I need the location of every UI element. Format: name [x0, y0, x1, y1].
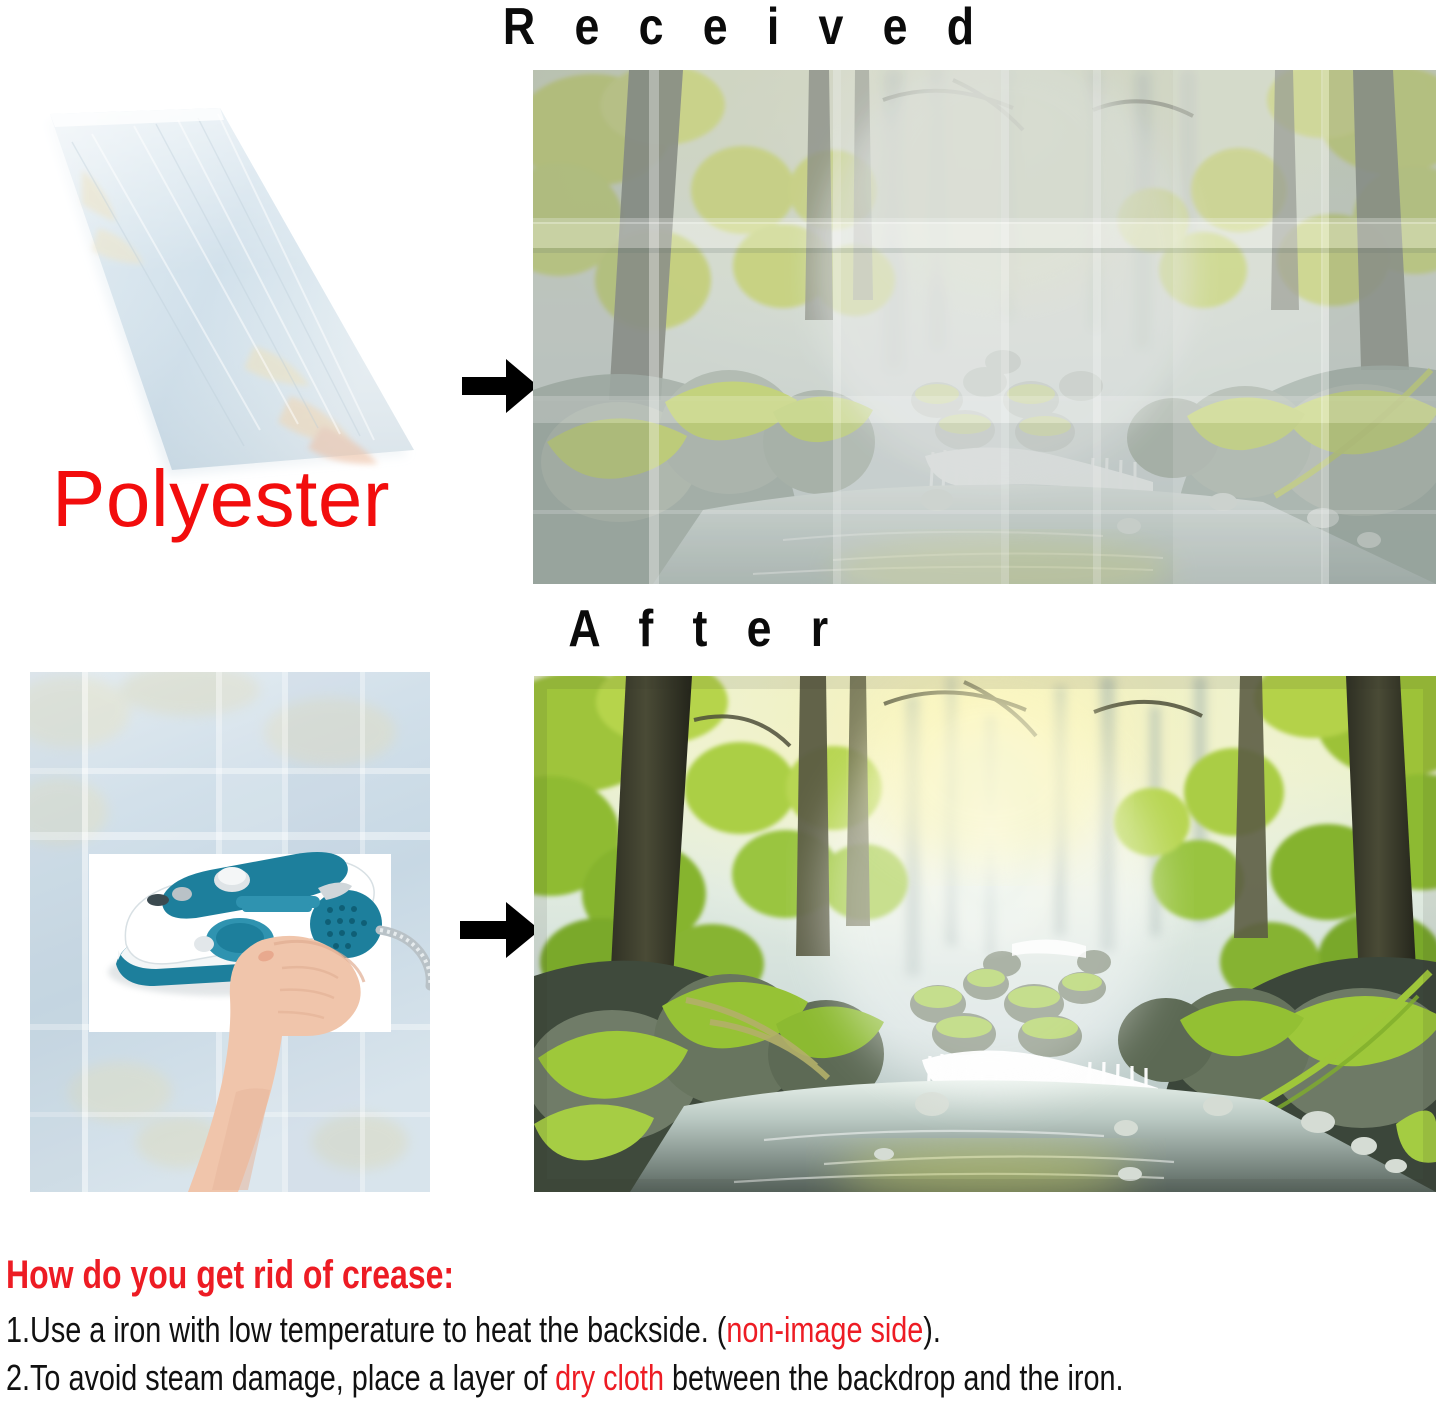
smooth-forest-backdrop-photo [534, 676, 1436, 1192]
instruction-line-2-part-a: 2.To avoid steam damage, place a layer o… [6, 1357, 555, 1398]
instruction-line-2: 2.To avoid steam damage, place a layer o… [6, 1356, 1150, 1400]
after-heading: A f t e r [503, 600, 907, 658]
polyester-label: Polyester [52, 455, 472, 543]
forest-scene-smooth [534, 676, 1436, 1192]
right-arrow-icon [458, 898, 542, 962]
instruction-line-1-part-a: 1.Use a iron with low temperature to hea… [6, 1309, 726, 1350]
folded-polyester-backdrop [22, 78, 432, 498]
right-arrow-icon [460, 355, 540, 417]
infographic-page: R e c e i v e d [0, 0, 1436, 1402]
ironing-illustration [30, 672, 430, 1192]
folded-fabric-illustration [22, 78, 432, 498]
creased-forest-backdrop-photo [533, 70, 1436, 584]
non-image-side-emphasis: non-image side [726, 1309, 923, 1350]
instructions-heading: How do you get rid of crease: [6, 1252, 1150, 1298]
instruction-line-1-part-b: ). [923, 1309, 941, 1350]
instruction-line-1: 1.Use a iron with low temperature to hea… [6, 1308, 1150, 1352]
instructions-block: How do you get rid of crease: 1.Use a ir… [6, 1252, 1436, 1404]
received-heading: R e c e i v e d [503, 0, 907, 56]
instruction-line-2-part-b: between the backdrop and the iron. [664, 1357, 1124, 1398]
ironing-backdrop-photo [30, 672, 430, 1192]
forest-scene-creased [533, 70, 1436, 584]
dry-cloth-emphasis: dry cloth [555, 1357, 664, 1398]
